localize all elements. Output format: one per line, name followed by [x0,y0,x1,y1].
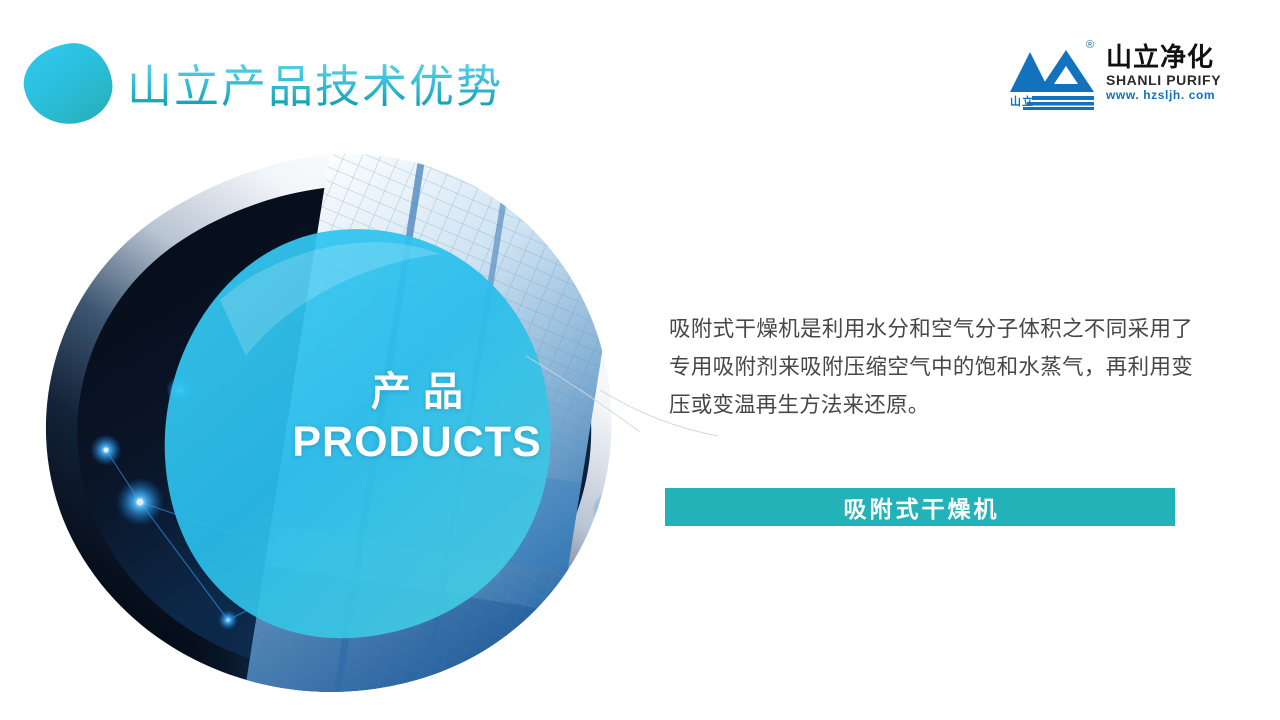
logo-company-en: SHANLI PURIFY [1106,72,1231,88]
logo-mark-label: 山立 [1010,96,1034,108]
product-name-banner[interactable]: 吸附式干燥机 [665,488,1175,526]
company-logo[interactable]: ® 山立 山立净化 SHANLI PURIFY www. hzsljh. com [1010,40,1225,120]
logo-website[interactable]: www. hzsljh. com [1106,88,1231,102]
cyan-overlay-blob [165,229,551,638]
products-blob-graphic: 产品 PRODUCTS [20,150,640,698]
slide-canvas: 山立产品技术优势 ® 山立 山立净化 SHANLI PURIFY www. hz… [0,0,1280,720]
product-name-label: 吸附式干燥机 [841,490,1000,524]
registered-trademark-icon: ® [1086,40,1094,51]
page-title: 山立产品技术优势 [127,58,503,116]
blob-illustration-svg [20,150,640,698]
blob-shape-icon [19,38,117,129]
logo-text-block: 山立净化 SHANLI PURIFY www. hzsljh. com [1106,42,1231,102]
slide-header: 山立产品技术优势 ® 山立 山立净化 SHANLI PURIFY www. hz… [0,0,1280,150]
description-paragraph: 吸附式干燥机是利用水分和空气分子体积之不同采用了专用吸附剂来吸附压缩空气中的饱和… [669,310,1193,424]
logo-company-cn: 山立净化 [1106,42,1231,72]
